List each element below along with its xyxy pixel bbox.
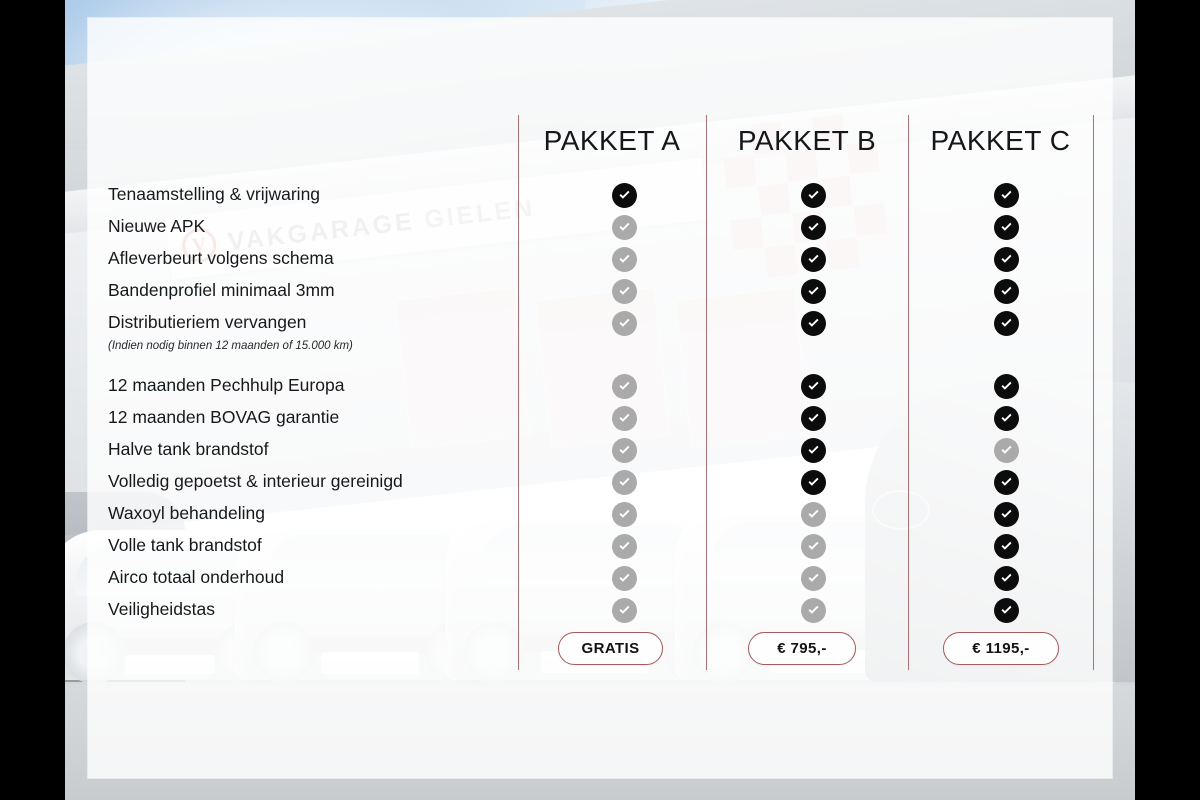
check-excluded-icon [801, 502, 826, 527]
check-excluded-icon [612, 534, 637, 559]
letterbox-bar-right [1135, 0, 1200, 800]
column-header-pakket-b: PAKKET B [706, 118, 908, 164]
feature-label: Airco totaal onderhoud [108, 569, 284, 587]
price-pakket-c[interactable]: € 1195,- [943, 632, 1059, 665]
package-comparison-table: PAKKET A PAKKET B PAKKET C Tenaamstellin… [88, 18, 1112, 778]
check-excluded-icon [612, 598, 637, 623]
column-header-pakket-c: PAKKET C [908, 118, 1093, 164]
feature-note: (Indien nodig binnen 12 maanden of 15.00… [108, 341, 353, 353]
check-included-icon [994, 598, 1019, 623]
check-included-icon [994, 215, 1019, 240]
price-pakket-b[interactable]: € 795,- [748, 632, 856, 665]
check-excluded-icon [612, 374, 637, 399]
check-excluded-icon [612, 470, 637, 495]
check-excluded-icon [612, 502, 637, 527]
check-included-icon [994, 534, 1019, 559]
feature-label: Afleverbeurt volgens schema [108, 250, 334, 268]
check-included-icon [801, 183, 826, 208]
feature-label: Nieuwe APK [108, 218, 205, 236]
check-included-icon [994, 406, 1019, 431]
check-included-icon [994, 566, 1019, 591]
check-included-icon [801, 406, 826, 431]
check-excluded-icon [612, 279, 637, 304]
feature-label: Distributieriem vervangen [108, 314, 306, 332]
check-excluded-icon [612, 438, 637, 463]
check-excluded-icon [612, 311, 637, 336]
check-included-icon [994, 183, 1019, 208]
check-included-icon [801, 374, 826, 399]
check-included-icon [994, 247, 1019, 272]
check-included-icon [801, 470, 826, 495]
feature-label: Halve tank brandstof [108, 441, 269, 459]
feature-label: Bandenprofiel minimaal 3mm [108, 282, 335, 300]
check-excluded-icon [612, 566, 637, 591]
feature-label: Volledig gepoetst & interieur gereinigd [108, 473, 403, 491]
feature-label: 12 maanden Pechhulp Europa [108, 377, 344, 395]
comparison-card: PAKKET A PAKKET B PAKKET C Tenaamstellin… [88, 18, 1112, 778]
column-divider [518, 115, 519, 670]
price-pakket-a[interactable]: GRATIS [558, 632, 663, 665]
check-excluded-icon [612, 247, 637, 272]
check-excluded-icon [801, 566, 826, 591]
column-header-pakket-a: PAKKET A [518, 118, 706, 164]
check-included-icon [994, 279, 1019, 304]
check-excluded-icon [612, 406, 637, 431]
feature-label: Tenaamstelling & vrijwaring [108, 186, 320, 204]
check-included-icon [801, 215, 826, 240]
check-included-icon [801, 438, 826, 463]
check-included-icon [801, 247, 826, 272]
feature-label: Volle tank brandstof [108, 537, 262, 555]
column-divider [1093, 115, 1094, 670]
check-included-icon [994, 502, 1019, 527]
check-included-icon [994, 374, 1019, 399]
feature-label: Veiligheidstas [108, 601, 215, 619]
check-excluded-icon [801, 598, 826, 623]
screenshot-canvas: V VAKGARAGE GIELEN PAKKET A PAKKET B PAK… [0, 0, 1200, 800]
letterbox-bar-left [0, 0, 65, 800]
check-included-icon [801, 311, 826, 336]
check-included-icon [801, 279, 826, 304]
check-included-icon [612, 183, 637, 208]
feature-label: 12 maanden BOVAG garantie [108, 409, 339, 427]
check-excluded-icon [994, 438, 1019, 463]
column-divider [908, 115, 909, 670]
check-included-icon [994, 311, 1019, 336]
check-excluded-icon [612, 215, 637, 240]
column-divider [706, 115, 707, 670]
feature-label: Waxoyl behandeling [108, 505, 265, 523]
check-excluded-icon [801, 534, 826, 559]
check-included-icon [994, 470, 1019, 495]
